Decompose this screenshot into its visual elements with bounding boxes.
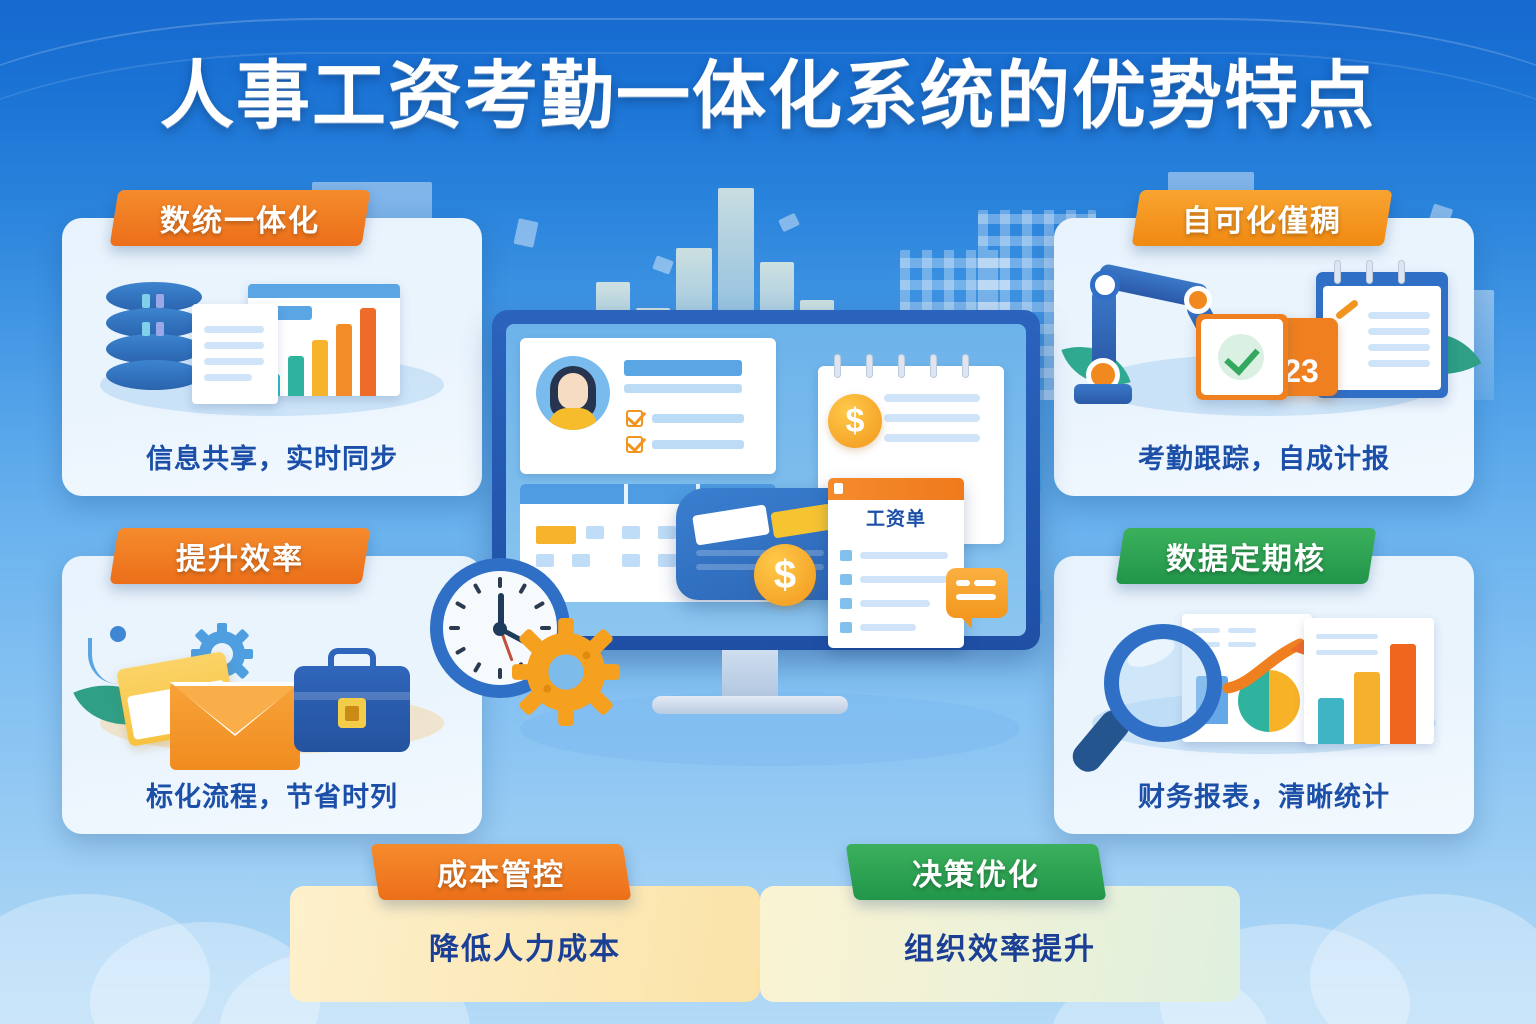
- profile-panel: [520, 338, 776, 474]
- coin-icon: $: [828, 394, 882, 448]
- wallet-icon: $: [676, 488, 848, 600]
- page-title: 人事工资考勤一体化系统的优势特点: [0, 36, 1536, 143]
- card-artwork-automation: 23: [1054, 266, 1474, 436]
- monitor-neck: [722, 650, 778, 702]
- database-icon: [106, 282, 202, 394]
- banner-badge-cost-control: 成本管控: [371, 844, 632, 900]
- card-badge-efficiency: 提升效率: [110, 528, 371, 584]
- card-artwork-data-integration: [62, 266, 482, 436]
- card-badge-analytics: 数据定期核: [1116, 528, 1377, 584]
- card-artwork-efficiency: [62, 604, 482, 774]
- payslip-title: 工资单: [828, 504, 964, 531]
- card-caption-data-integration: 信息共享，实时同步: [62, 437, 482, 476]
- card-badge-data-integration: 数统一体化: [110, 190, 371, 246]
- briefcase-icon: [294, 666, 410, 752]
- checkbox-icon: [626, 410, 643, 427]
- card-badge-automation: 自可化僅稠: [1132, 190, 1393, 246]
- monitor-stand: [652, 696, 848, 714]
- chat-bubble-icon: [946, 568, 1008, 618]
- envelope-icon: [170, 682, 300, 770]
- avatar: [536, 356, 610, 430]
- feature-card-efficiency[interactable]: 提升效率: [62, 556, 482, 834]
- checkbox-icon: [626, 436, 643, 453]
- card-artwork-analytics: [1054, 604, 1474, 774]
- banner-text-decision-optimization: 组织效率提升: [760, 924, 1240, 968]
- infographic-poster: 人事工资考勤一体化系统的优势特点 数统一体化: [0, 0, 1536, 1024]
- hero-illustration: $ $ 工资单: [430, 300, 1110, 780]
- coin-icon: $: [754, 544, 816, 606]
- checklist-icon: [1196, 314, 1288, 400]
- card-caption-automation: 考勤跟踪，自成计报: [1054, 437, 1474, 476]
- document-icon: [192, 304, 278, 404]
- feature-card-automation[interactable]: 自可化僅稠: [1054, 218, 1474, 496]
- bar-chart-icon: [1304, 618, 1434, 744]
- payslip-icon: 工资单: [828, 478, 964, 648]
- feature-card-analytics[interactable]: 数据定期核: [1054, 556, 1474, 834]
- feature-card-data-integration[interactable]: 数统一体化: [62, 218, 482, 496]
- banner-text-cost-control: 降低人力成本: [290, 924, 760, 968]
- bottom-banner-decision-optimization[interactable]: 决策优化 组织效率提升: [760, 886, 1240, 1002]
- card-caption-analytics: 财务报表，清晰统计: [1054, 775, 1474, 814]
- gear-icon: [512, 618, 620, 726]
- card-caption-efficiency: 标化流程，节省时列: [62, 775, 482, 814]
- banner-badge-decision-optimization: 决策优化: [846, 844, 1107, 900]
- bottom-banner-cost-control[interactable]: 成本管控 降低人力成本: [290, 886, 760, 1002]
